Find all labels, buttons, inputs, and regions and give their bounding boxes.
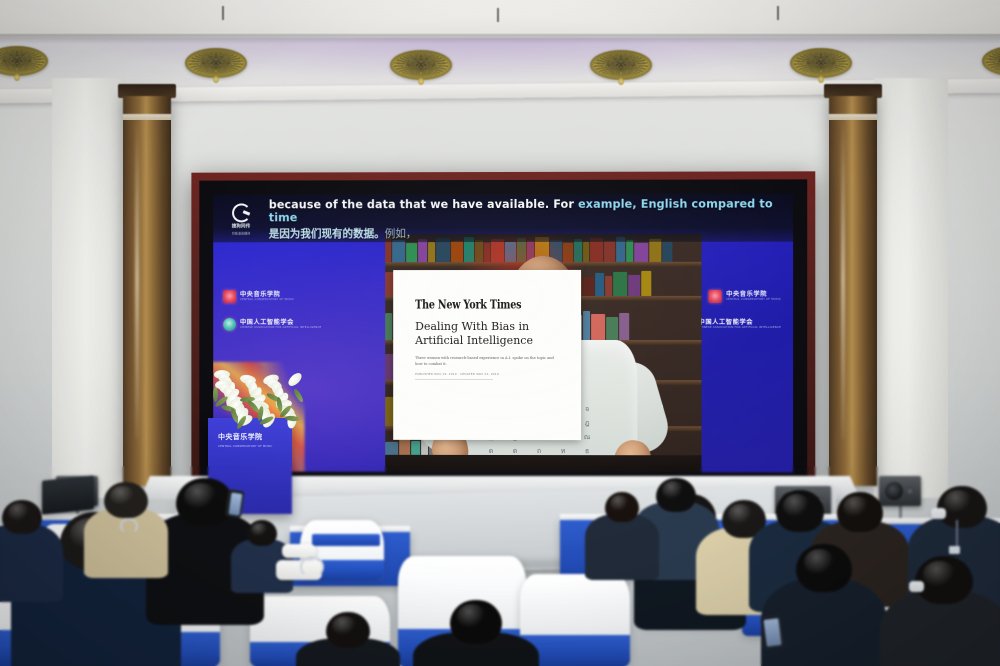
- audience-member-head: [450, 600, 502, 644]
- face-mask: [931, 508, 946, 519]
- audience-member-head: [796, 544, 852, 592]
- audience-member-torso: [0, 524, 63, 602]
- audience-member: [0, 500, 63, 612]
- hair-highlight: [110, 486, 135, 506]
- audience-member-head: [605, 492, 639, 522]
- audience-member-head: [915, 556, 973, 604]
- phone-screen: [228, 492, 242, 515]
- hair-highlight: [251, 523, 268, 538]
- audience-member: [413, 600, 539, 666]
- name-badge: [949, 546, 960, 554]
- audience-member-torso: [585, 514, 659, 580]
- audience-member-head: [937, 486, 987, 528]
- hair-highlight: [610, 495, 629, 512]
- audience-member-head: [247, 520, 277, 546]
- audience-area: [0, 0, 1000, 666]
- audience-member: [585, 492, 659, 588]
- audience-member: [761, 544, 887, 666]
- audience-member-head: [837, 492, 883, 532]
- hair-highlight: [457, 604, 486, 629]
- conference-hall-photo: 中央音乐学院 CENTRAL CONSERVATORY OF MUSIC 中国人…: [0, 0, 1000, 666]
- lanyard: [956, 520, 958, 546]
- hair-highlight: [923, 561, 955, 588]
- audience-member-head: [2, 500, 42, 534]
- audience-member-head: [326, 612, 370, 648]
- coiled-cable: [300, 556, 324, 578]
- audience-member: [296, 612, 400, 666]
- audience-member-head: [176, 478, 234, 526]
- audience-member: [880, 556, 1000, 666]
- chair-sash-band: [312, 534, 380, 546]
- hair-highlight: [8, 503, 30, 522]
- hair-highlight: [662, 481, 684, 500]
- smartphone-held-up[interactable]: [225, 489, 245, 518]
- coiled-cable: [120, 518, 138, 534]
- phone-screen: [763, 618, 781, 647]
- hair-highlight: [804, 549, 835, 576]
- audience-member-head: [656, 478, 696, 512]
- face-mask: [909, 581, 924, 592]
- audience-member-head: [104, 482, 148, 518]
- hair-highlight: [184, 483, 216, 510]
- hair-highlight: [944, 490, 972, 514]
- smartphone-held-up[interactable]: [760, 615, 784, 649]
- hair-highlight: [783, 494, 810, 518]
- hair-highlight: [332, 616, 357, 636]
- audience-member: [84, 482, 168, 588]
- laptop-on-table[interactable]: [42, 475, 94, 514]
- hair-highlight: [843, 496, 869, 518]
